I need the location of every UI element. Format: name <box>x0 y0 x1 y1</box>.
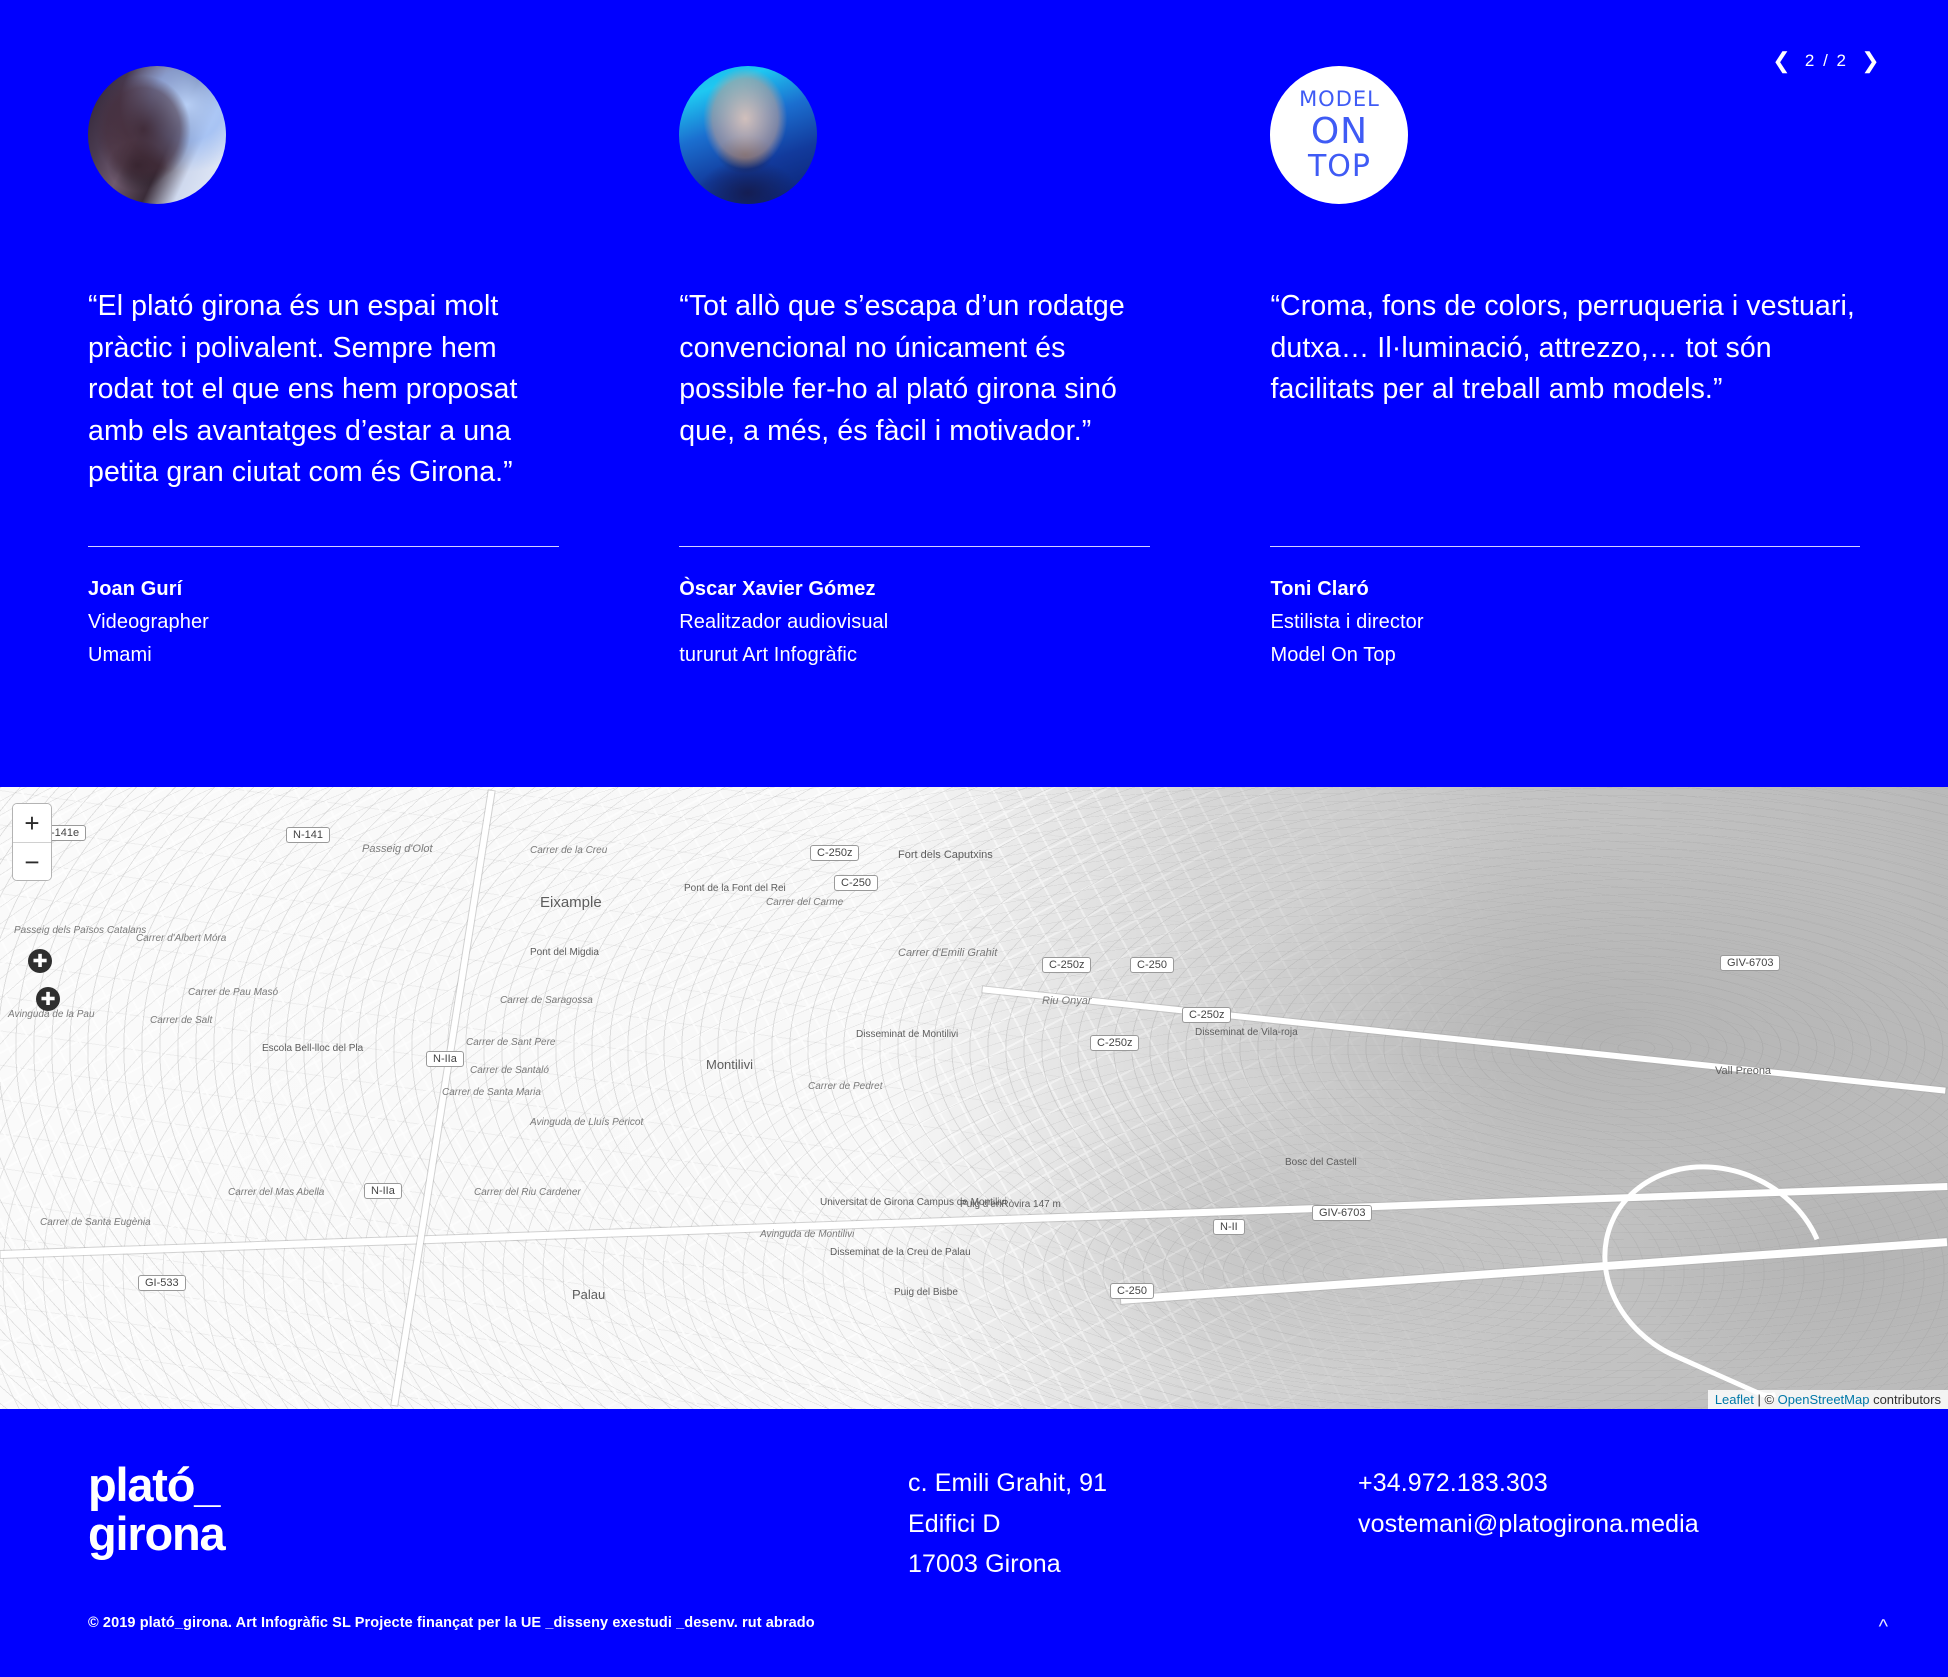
chevron-left-icon[interactable]: ❮ <box>1773 48 1791 74</box>
testimonial-author-company: tururut Art Infogràfic <box>679 639 1150 672</box>
testimonial-author-name: Toni Claró <box>1270 573 1860 606</box>
map-road-shield: N-II <box>1213 1219 1245 1235</box>
map-zoom-control[interactable]: + − <box>12 803 52 881</box>
divider <box>679 546 1150 547</box>
address-line-2: Edifici D <box>908 1504 1358 1545</box>
map-road-shield: C-250z <box>1042 957 1091 973</box>
footer-logo[interactable]: plató_ girona <box>88 1461 908 1677</box>
map-label: Puig d'enRòvira 147 m <box>960 1199 1061 1210</box>
map-road-shield: C-250z <box>810 845 859 861</box>
pager-count: 2 / 2 <box>1805 51 1848 71</box>
map-label: Pont de la Font del Rei <box>684 883 786 894</box>
testimonials-section: ❮ 2 / 2 ❯ “El plató girona és un espai m… <box>0 0 1948 787</box>
testimonial-pager: ❮ 2 / 2 ❯ <box>1773 48 1880 74</box>
map-label: Bosc del Castell <box>1285 1157 1357 1168</box>
map-label: Carrer del Riu Cardener <box>474 1187 581 1198</box>
map-label: Carrer d'Albert Móra <box>136 933 226 944</box>
map-label: Escola Bell-lloc del Pla <box>262 1043 363 1054</box>
attribution-separator: | <box>1754 1392 1765 1407</box>
map-label: Carrer del Carme <box>766 897 843 908</box>
map-section[interactable]: EixampleFort dels CaputxinsPasseig d'Olo… <box>0 787 1948 1409</box>
testimonial-author-name: Òscar Xavier Gómez <box>679 573 1150 606</box>
map-label: Carrer de Pau Masó <box>188 987 278 998</box>
site-footer: plató_ girona c. Emili Grahit, 91 Edific… <box>0 1409 1948 1677</box>
leaflet-link[interactable]: Leaflet <box>1715 1392 1754 1407</box>
map-label: Avinguda de Montilivi <box>760 1229 854 1240</box>
openstreetmap-link[interactable]: OpenStreetMap <box>1778 1392 1870 1407</box>
address-line-3: 17003 Girona <box>908 1544 1358 1585</box>
address-line-1: c. Emili Grahit, 91 <box>908 1463 1358 1504</box>
testimonial-columns: “El plató girona és un espai molt pràcti… <box>88 0 1860 673</box>
testimonial-author-company: Model On Top <box>1270 639 1860 672</box>
map-label: Carrer de Santa Eugènia <box>40 1217 151 1228</box>
map-poi-icon[interactable]: ✚ <box>28 949 52 973</box>
avatar-logo-line-3: TOP <box>1308 152 1371 182</box>
email-address[interactable]: vostemani@platogirona.media <box>1358 1504 1699 1545</box>
map-road-shield: C-250 <box>834 875 878 891</box>
copyright-symbol: © <box>1764 1392 1777 1407</box>
page-root: ❮ 2 / 2 ❯ “El plató girona és un espai m… <box>0 0 1948 1677</box>
map-label: Palau <box>572 1287 605 1302</box>
map-label: Carrer de la Creu <box>530 845 607 856</box>
map-road-shield: C-250 <box>1110 1283 1154 1299</box>
map-label: Carrer de Pedret <box>808 1081 882 1092</box>
divider <box>88 546 559 547</box>
testimonial-author-role: Estilista i director <box>1270 606 1860 639</box>
footer-logo-line-1: plató_ <box>88 1461 908 1510</box>
divider <box>1270 546 1860 547</box>
testimonial-author-role: Videographer <box>88 606 559 639</box>
map-label: Puig del Bisbe <box>894 1287 958 1298</box>
map-road-shield: C-250z <box>1182 1007 1231 1023</box>
map-label: Carrer de Santaló <box>470 1065 549 1076</box>
testimonial-quote: “Tot allò que s’escapa d’un rodatge conv… <box>679 286 1150 518</box>
footer-address: c. Emili Grahit, 91 Edifici D 17003 Giro… <box>908 1461 1358 1677</box>
testimonial-quote: “Croma, fons de colors, perruqueria i ve… <box>1270 286 1860 518</box>
avatar-logo-line-1: MODEL <box>1299 89 1380 110</box>
avatar <box>88 66 226 204</box>
map-label: Disseminat de la Creu de Palau <box>830 1247 971 1258</box>
map-road-shield: N-IIa <box>364 1183 402 1199</box>
footer-contact: +34.972.183.303 vostemani@platogirona.me… <box>1358 1461 1699 1677</box>
map-label: Disseminat de Vila-roja <box>1195 1027 1298 1038</box>
map-label: Pont del Migdia <box>530 947 599 958</box>
contributors-text: contributors <box>1869 1392 1941 1407</box>
map-label: Disseminat de Montilivi <box>856 1029 958 1040</box>
testimonial-author-name: Joan Gurí <box>88 573 559 606</box>
footer-logo-line-2: girona <box>88 1510 908 1559</box>
map-label: Montilivi <box>706 1057 753 1072</box>
testimonial-author-role: Realitzador audiovisual <box>679 606 1150 639</box>
map-label: Vall Preona <box>1715 1065 1771 1077</box>
map-label: Carrer de Saragossa <box>500 995 593 1006</box>
chevron-right-icon[interactable]: ❯ <box>1862 48 1880 74</box>
avatar-logo: MODEL ON TOP <box>1270 66 1408 204</box>
map-label: Passeig dels Països Catalans <box>14 925 146 936</box>
testimonial-card: “El plató girona és un espai molt pràcti… <box>88 66 679 673</box>
map-road-shield: C-250 <box>1130 957 1174 973</box>
map-label: Avinguda de la Pau <box>8 1009 95 1020</box>
map-label: Passeig d'Olot <box>362 843 433 855</box>
map-label: Carrer de Sant Pere <box>466 1037 556 1048</box>
map-label: Eixample <box>540 894 602 911</box>
map-label: Riu Onyar <box>1042 995 1092 1007</box>
testimonial-card: “Tot allò que s’escapa d’un rodatge conv… <box>679 66 1270 673</box>
avatar <box>679 66 817 204</box>
map-road-shield: GI-533 <box>138 1275 186 1291</box>
map-label: Avinguda de Lluís Pericot <box>530 1117 643 1128</box>
map-road-shield: C-250z <box>1090 1035 1139 1051</box>
zoom-out-button[interactable]: − <box>13 842 51 880</box>
map-label: Carrer d'Emili Grahit <box>898 947 997 959</box>
map-road-shield: GIV-6703 <box>1312 1205 1372 1221</box>
map-label: Fort dels Caputxins <box>898 849 993 861</box>
map-road-shield: GIV-6703 <box>1720 955 1780 971</box>
testimonial-quote: “El plató girona és un espai molt pràcti… <box>88 286 559 518</box>
zoom-in-button[interactable]: + <box>13 804 51 842</box>
map-label: Carrer de Salt <box>150 1015 212 1026</box>
map-road-shield: N-141 <box>286 827 330 843</box>
chevron-up-icon[interactable]: ^ <box>1879 1616 1888 1639</box>
map-attribution: Leaflet | © OpenStreetMap contributors <box>1708 1390 1948 1409</box>
copyright-text: © 2019 plató_girona. Art Infogràfic SL P… <box>88 1615 815 1631</box>
map-label: Carrer del Mas Abella <box>228 1187 324 1198</box>
map-poi-icon[interactable]: ✚ <box>36 987 60 1011</box>
phone-number[interactable]: +34.972.183.303 <box>1358 1463 1699 1504</box>
map-label: Carrer de Santa Maria <box>442 1087 541 1098</box>
testimonial-author-company: Umami <box>88 639 559 672</box>
map-road-shield: N-IIa <box>426 1051 464 1067</box>
testimonial-card: MODEL ON TOP “Croma, fons de colors, per… <box>1270 66 1860 673</box>
avatar-logo-line-2: ON <box>1311 114 1368 150</box>
